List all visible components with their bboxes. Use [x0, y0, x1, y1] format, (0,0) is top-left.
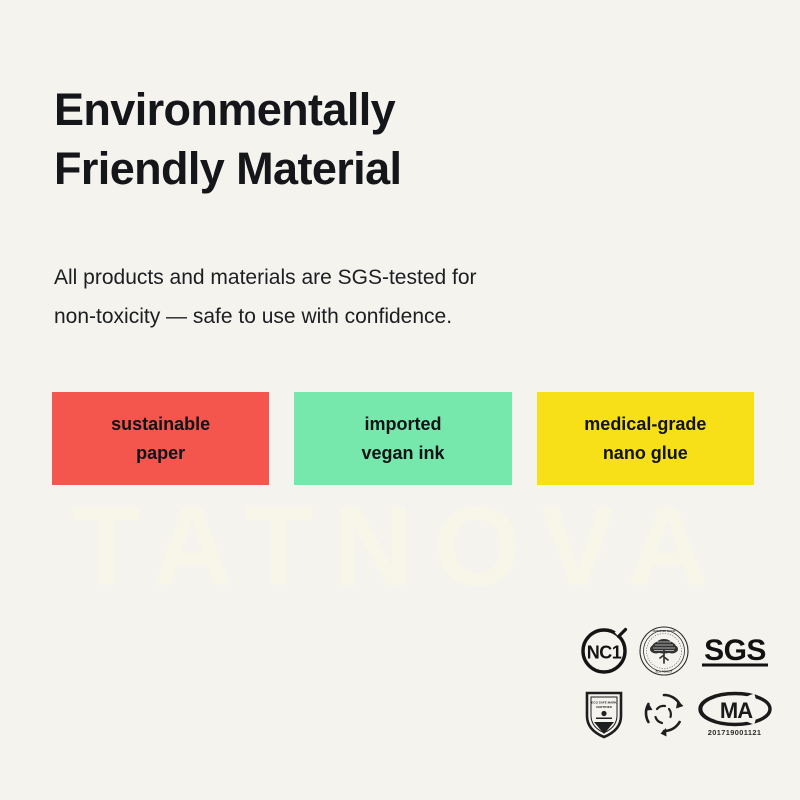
material-tag-line-1: imported — [364, 410, 441, 439]
page-title: Environmentally Friendly Material — [54, 80, 714, 198]
cma-certification-icon: MA 201719001121 — [695, 684, 775, 742]
certification-badge-group: NC1 — [575, 622, 775, 744]
material-tag-line-2: vegan ink — [361, 439, 444, 468]
shield-certification-icon: ECO SAFE MARK CERTIFIED — [575, 684, 633, 742]
material-tag-list: sustainable paper imported vegan ink med… — [52, 392, 754, 485]
page-description-line-1: All products and materials are SGS-teste… — [54, 258, 694, 297]
brand-watermark: TATNOVA — [0, 487, 800, 607]
material-tag-line-1: medical-grade — [584, 410, 706, 439]
page-description-line-2: non-toxicity — safe to use with confiden… — [54, 297, 694, 336]
nc1-certification-icon: NC1 — [575, 623, 633, 679]
page-description: All products and materials are SGS-teste… — [54, 258, 694, 336]
svg-text:ECO SAFE MARK: ECO SAFE MARK — [591, 701, 617, 705]
svg-text:MA: MA — [720, 698, 753, 723]
page-title-line-1: Environmentally — [54, 80, 714, 139]
cma-certificate-number: 201719001121 — [708, 730, 762, 737]
material-tag-sustainable-paper: sustainable paper — [52, 392, 269, 485]
recycle-certification-icon — [633, 684, 695, 742]
poster-canvas: TATNOVA Environmentally Friendly Materia… — [0, 0, 800, 800]
forest-seal-certification-icon: CERTIFIED WOOD ECO FOREST — [633, 623, 695, 679]
material-tag-line-2: paper — [136, 439, 185, 468]
svg-text:ECO FOREST: ECO FOREST — [656, 670, 673, 674]
page-title-line-2: Friendly Material — [54, 139, 714, 198]
certification-badge-row-bottom: ECO SAFE MARK CERTIFIED — [575, 684, 775, 742]
certification-badge-row-top: NC1 — [575, 622, 775, 680]
svg-text:CERTIFIED WOOD: CERTIFIED WOOD — [653, 629, 676, 633]
material-tag-line-1: sustainable — [111, 410, 210, 439]
material-tag-imported-vegan-ink: imported vegan ink — [294, 392, 511, 485]
svg-text:CERTIFIED: CERTIFIED — [596, 705, 613, 709]
material-tag-line-2: nano glue — [603, 439, 688, 468]
svg-text:SGS: SGS — [704, 634, 766, 667]
sgs-certification-icon: SGS — [695, 623, 775, 679]
material-tag-medical-grade-nano-glue: medical-grade nano glue — [537, 392, 754, 485]
svg-text:NC1: NC1 — [587, 643, 622, 663]
